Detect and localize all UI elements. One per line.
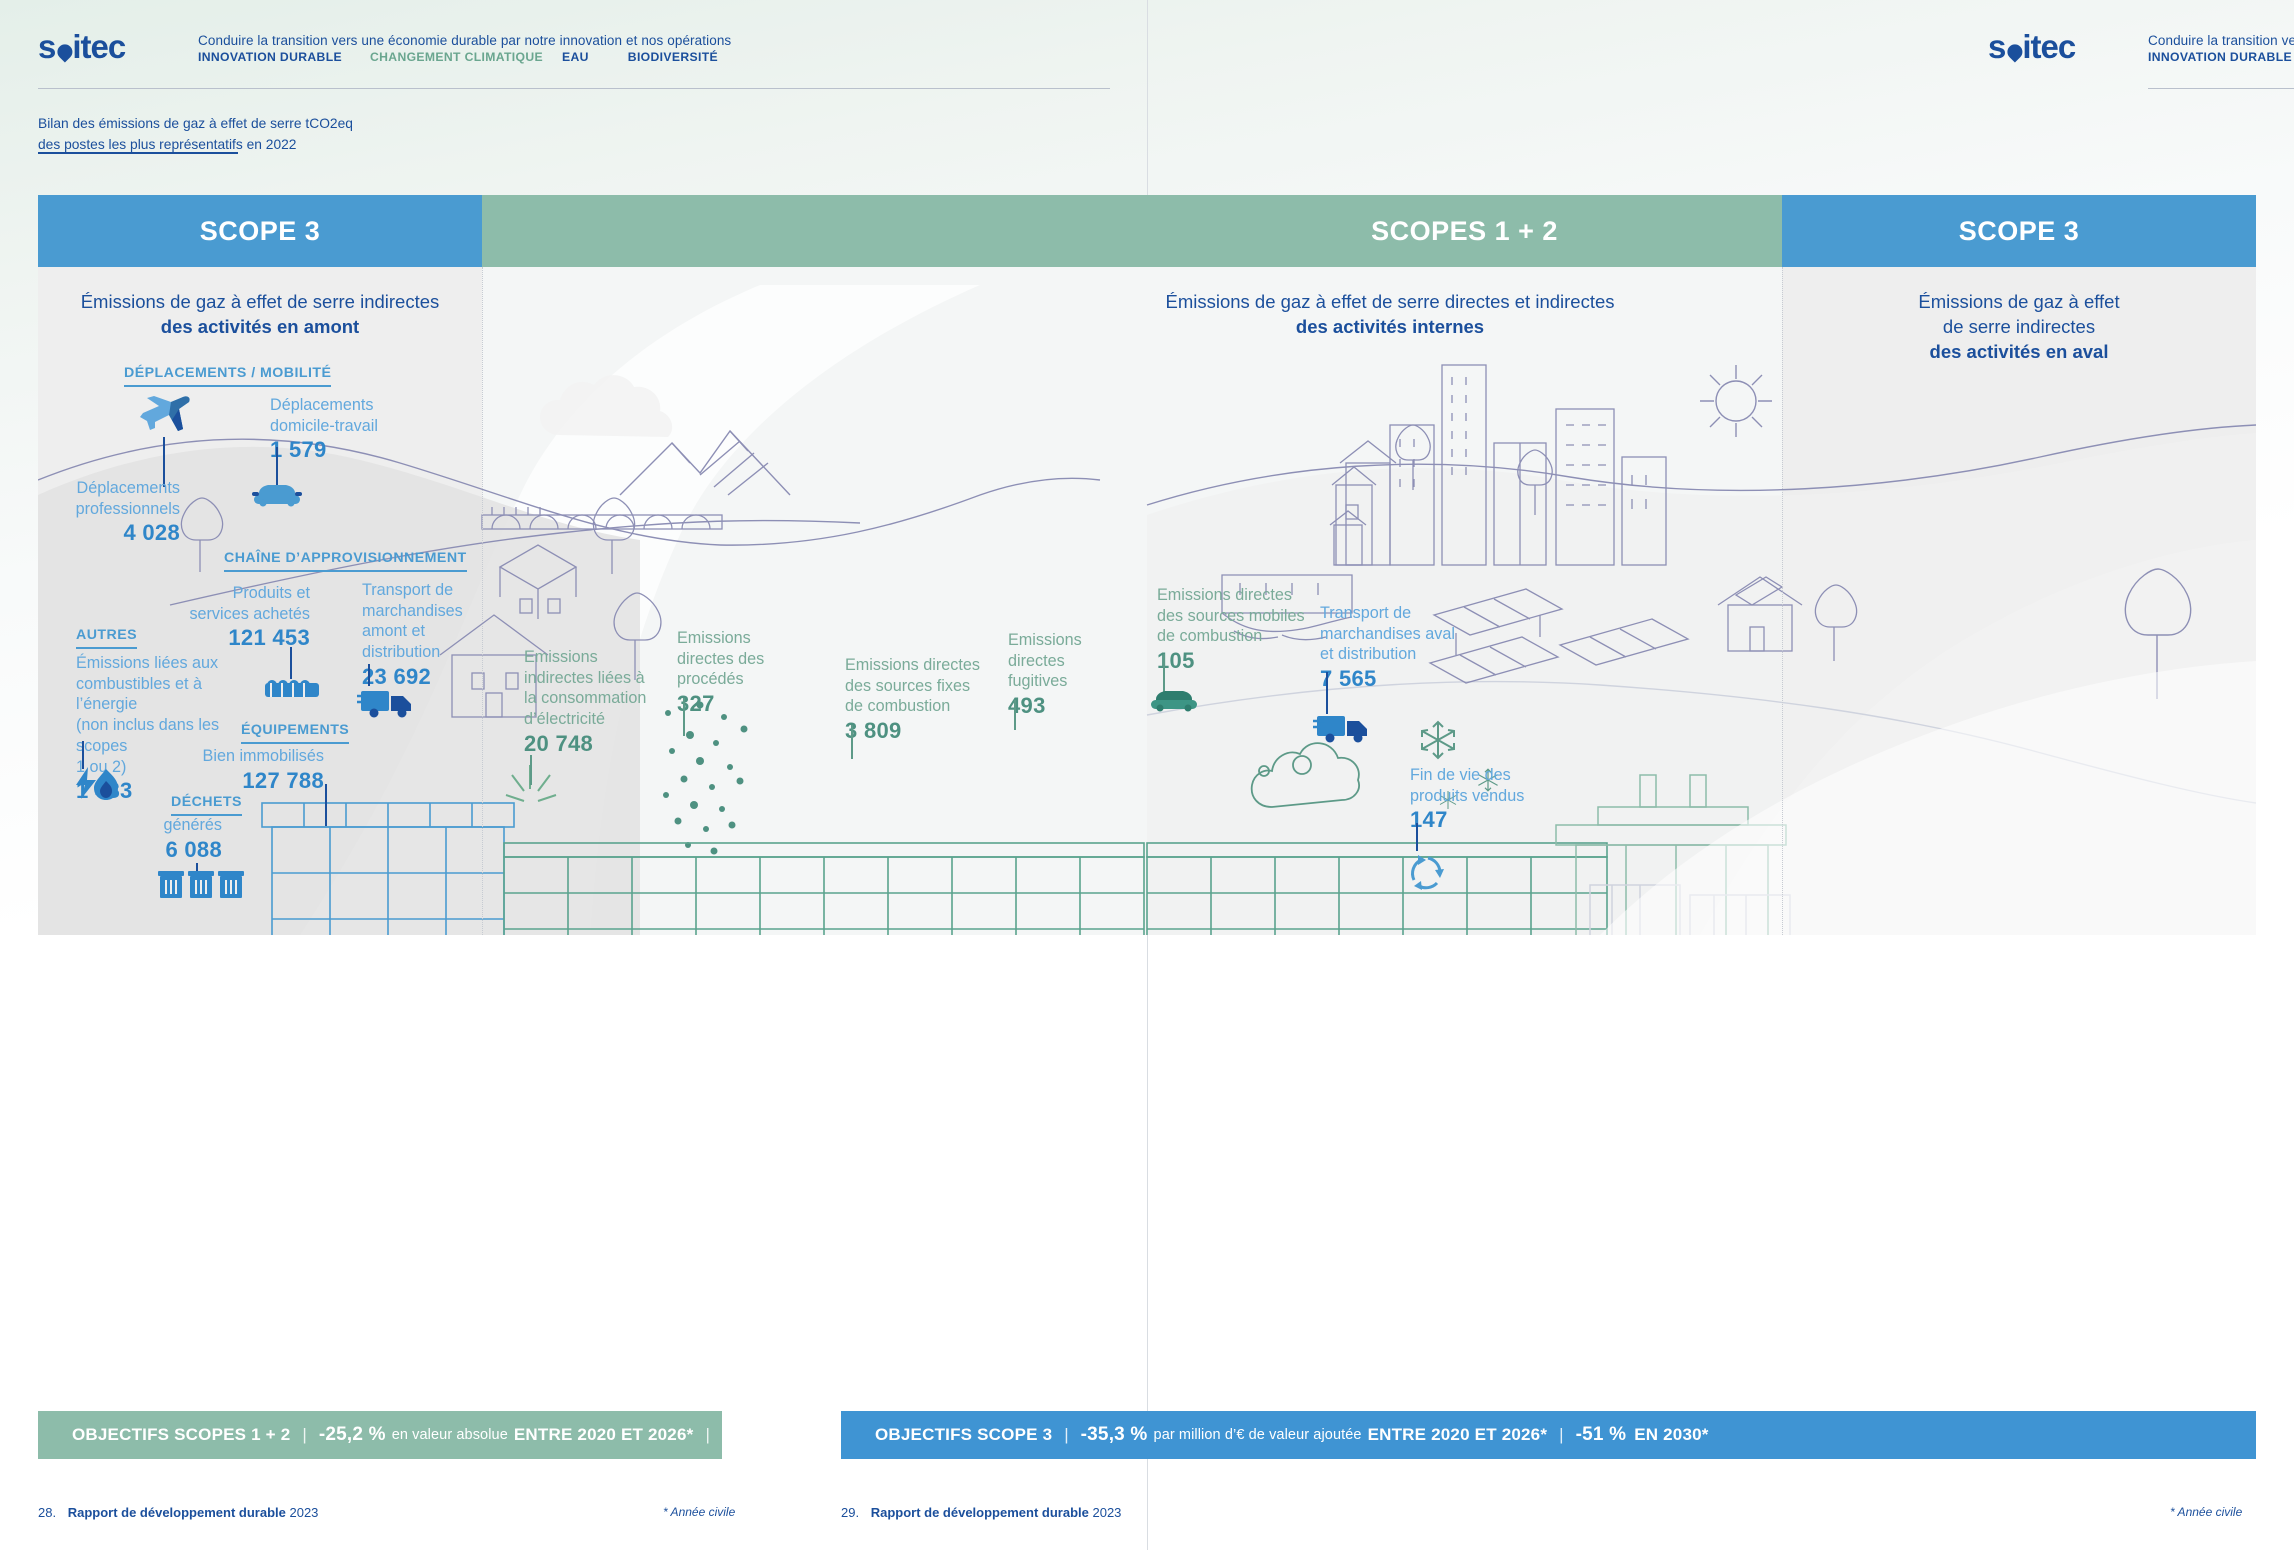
- item-capital-goods-value: 127 788: [180, 768, 324, 794]
- emissions-infographic: SCOPE 3 SCOPES 1 + 2 SCOPE 3 Émissions d…: [0, 195, 2294, 935]
- desc-upstream-line2: des activités en amont: [161, 316, 359, 337]
- item-business-travel-value: 4 028: [0, 520, 180, 546]
- panel-middle-bg-left: [482, 195, 1147, 935]
- item-downstream-transport-value: 7 565: [1320, 666, 1480, 692]
- item-capital-goods-label: Bien immobilisés: [180, 746, 324, 767]
- item-fugitive-label: Emissionsdirectesfugitives: [1008, 630, 1118, 692]
- leader-purchased-goods: [290, 647, 292, 679]
- item-commuting: Déplacementsdomicile-travail 1 579: [270, 395, 440, 463]
- footnote-left: * Année civile: [663, 1505, 735, 1519]
- wafers-icon: [265, 677, 319, 706]
- objective-scope3-title: OBJECTIFS SCOPE 3: [875, 1425, 1052, 1445]
- chart-subtitle-line1: Bilan des émissions de gaz à effet de se…: [38, 116, 353, 131]
- waste-bins-icon: [130, 850, 250, 905]
- leader-fugitive: [1014, 700, 1016, 730]
- band-label-scopes12: SCOPES 1 + 2: [1371, 216, 1558, 247]
- footer-left-page-number: 28.: [38, 1505, 56, 1520]
- desc-downstream: Émissions de gaz à effet de serre indire…: [1782, 290, 2256, 365]
- item-commuting-value: 1 579: [270, 437, 440, 463]
- item-purchased-goods: Produits etservices achetés 121 453: [160, 583, 310, 651]
- leader-commuting: [276, 447, 278, 487]
- objective-scope3-period-2026: ENTRE 2020 ET 2026*: [1368, 1425, 1548, 1445]
- item-business-travel: Déplacementsprofessionnels 4 028: [0, 478, 180, 546]
- soitec-logo: sitec: [38, 28, 125, 66]
- band-label-scope3-upstream: SCOPE 3: [200, 216, 321, 247]
- footer-left-year: 2023: [289, 1505, 318, 1520]
- truck-downstream-icon: [1313, 710, 1375, 749]
- chart-subtitle-line2: des postes les plus représentatifs en 20…: [38, 137, 296, 152]
- footer-left-report: Rapport de développement durable: [68, 1505, 286, 1520]
- item-electricity-label: Emissionsindirectes liées àla consommati…: [524, 647, 674, 730]
- leader-process: [683, 698, 685, 736]
- leader-stationary: [851, 725, 853, 759]
- footnote-right: * Année civile: [2170, 1505, 2242, 1519]
- header-nav-right: INNOVATION DURABLE CHANGEMENT CLIMATIQUE…: [2148, 50, 2294, 70]
- objective-sep-2: |: [705, 1425, 709, 1445]
- category-mobility: DÉPLACEMENTS / MOBILITÉ: [124, 365, 331, 387]
- truck-icon: [357, 685, 419, 724]
- logo-leaf-icon-right: [2005, 41, 2026, 62]
- item-mobile-value: 105: [1157, 648, 1337, 674]
- footer-right-report: Rapport de développement durable: [871, 1505, 1089, 1520]
- energy-flame-bolt-icon: [72, 765, 128, 806]
- nav-item-biodiversite[interactable]: BIODIVERSITÉ: [628, 50, 718, 64]
- objective-sep-1: |: [302, 1425, 306, 1445]
- objective-scope3-basis: par million d’€ de valeur ajoutée: [1154, 1427, 1362, 1443]
- item-electricity-value: 20 748: [524, 731, 674, 757]
- logo-leaf-icon: [55, 41, 76, 62]
- band-scopes12-right: SCOPES 1 + 2: [1147, 195, 1782, 267]
- objective-scope3: OBJECTIFS SCOPE 3 | -35,3 % par million …: [841, 1411, 2256, 1459]
- nav-item-changement-climatique[interactable]: CHANGEMENT CLIMATIQUE: [370, 50, 543, 64]
- plane-icon: [136, 391, 192, 440]
- item-downstream-transport-label: Transport demarchandises avalet distribu…: [1320, 603, 1480, 665]
- page-header-left: sitec Conduire la transition vers une éc…: [0, 0, 1147, 190]
- item-process: Emissionsdirectes desprocédés 327: [677, 628, 797, 717]
- report-spread: sitec Conduire la transition vers une éc…: [0, 0, 2294, 1550]
- desc-downstream-line1: Émissions de gaz à effet: [1918, 291, 2119, 312]
- desc-downstream-line2: de serre indirectes: [1943, 316, 2095, 337]
- desc-upstream: Émissions de gaz à effet de serre indire…: [38, 290, 482, 340]
- desc-internal: Émissions de gaz à effet de serre direct…: [1060, 290, 1720, 340]
- item-purchased-goods-label: Produits etservices achetés: [160, 583, 310, 624]
- item-stationary-label: Emissions directesdes sources fixesde co…: [845, 655, 1015, 717]
- band-label-scope3-downstream: SCOPE 3: [1959, 216, 2080, 247]
- leader-electricity: [530, 755, 532, 785]
- category-equipment: ÉQUIPEMENTS: [241, 722, 349, 744]
- desc-downstream-line3: des activités en aval: [1930, 341, 2109, 362]
- panel-divider-2: [1782, 267, 1783, 935]
- page-header-right: sitec Conduire la transition vers une éc…: [1147, 0, 2294, 190]
- objective-scopes12: OBJECTIFS SCOPES 1 + 2 | -25,2 % en vale…: [38, 1411, 722, 1459]
- category-supply-chain: CHAÎNE D’APPROVISIONNEMENT: [224, 550, 467, 572]
- item-fugitive-value: 493: [1008, 693, 1118, 719]
- car-icon: [252, 483, 302, 514]
- leader-end-of-life: [1416, 823, 1418, 851]
- objective-scopes12-period-2026: ENTRE 2020 ET 2026*: [514, 1425, 694, 1445]
- header-nav-left: INNOVATION DURABLE CHANGEMENT CLIMATIQUE…: [198, 50, 718, 70]
- item-upstream-transport-label: Transport demarchandisesamont etdistribu…: [362, 580, 482, 663]
- item-end-of-life-value: 147: [1410, 807, 1570, 833]
- objective-scope3-pct-2030: -51 %: [1576, 1424, 1627, 1446]
- leader-capital-goods: [325, 784, 327, 826]
- nav-item-innovation-durable[interactable]: INNOVATION DURABLE: [198, 50, 342, 64]
- band-scopes12-left: [482, 195, 1147, 267]
- item-business-travel-label: Déplacementsprofessionnels: [0, 478, 180, 519]
- objective-scope3-pct-2026: -35,3 %: [1081, 1424, 1148, 1446]
- item-mobile-label: Emissions directesdes sources mobilesde …: [1157, 585, 1337, 647]
- item-waste-label: générés: [100, 815, 222, 836]
- objective-sep-3: |: [1064, 1425, 1068, 1445]
- band-scope3-upstream: SCOPE 3: [38, 195, 482, 267]
- item-commuting-label: Déplacementsdomicile-travail: [270, 395, 440, 436]
- leader-mobile: [1163, 654, 1165, 692]
- item-mobile: Emissions directesdes sources mobilesde …: [1157, 585, 1337, 674]
- header-tagline-right: Conduire la transition vers une économie…: [2148, 33, 2294, 48]
- objective-scopes12-pct-2026: -25,2 %: [319, 1424, 386, 1446]
- band-scope3-downstream: SCOPE 3: [1782, 195, 2256, 267]
- soitec-logo-right: sitec: [1988, 28, 2075, 66]
- item-end-of-life: Fin de vie desproduits vendus 147: [1410, 765, 1570, 833]
- header-divider-left: [38, 88, 1110, 89]
- desc-internal-line2: des activités internes: [1296, 316, 1484, 337]
- objective-scopes12-pct-2030: -37 %: [722, 1424, 773, 1446]
- item-fugitive: Emissionsdirectesfugitives 493: [1008, 630, 1118, 719]
- leader-downstream-transport: [1326, 672, 1328, 714]
- item-stationary: Emissions directesdes sources fixesde co…: [845, 655, 1015, 744]
- chart-subtitle: Bilan des émissions de gaz à effet de se…: [38, 113, 353, 156]
- item-process-value: 327: [677, 691, 797, 717]
- item-stationary-value: 3 809: [845, 718, 1015, 744]
- item-process-label: Emissionsdirectes desprocédés: [677, 628, 797, 690]
- desc-internal-line1: Émissions de gaz à effet de serre direct…: [1165, 291, 1614, 312]
- electric-car-icon: [1148, 688, 1200, 719]
- footer-right-year: 2023: [1092, 1505, 1121, 1520]
- objective-scopes12-title: OBJECTIFS SCOPES 1 + 2: [72, 1425, 290, 1445]
- item-downstream-transport: Transport demarchandises avalet distribu…: [1320, 603, 1480, 692]
- item-upstream-transport: Transport demarchandisesamont etdistribu…: [362, 580, 482, 690]
- panel-divider-1: [482, 267, 483, 935]
- item-purchased-goods-value: 121 453: [160, 625, 310, 651]
- header-tagline: Conduire la transition vers une économie…: [198, 33, 731, 48]
- item-capital-goods: Bien immobilisés 127 788: [180, 746, 324, 794]
- objective-scope3-period-2030: EN 2030*: [1634, 1425, 1708, 1445]
- footer-right-page-number: 29.: [841, 1505, 859, 1520]
- objective-sep-4: |: [1559, 1425, 1563, 1445]
- chart-subtitle-underline: [38, 152, 238, 154]
- footer-right: 29. Rapport de développement durable 202…: [841, 1505, 1121, 1520]
- nav-item-innovation-durable-right[interactable]: INNOVATION DURABLE: [2148, 50, 2292, 64]
- item-end-of-life-label: Fin de vie desproduits vendus: [1410, 765, 1570, 806]
- desc-upstream-line1: Émissions de gaz à effet de serre indire…: [81, 291, 440, 312]
- objective-scopes12-basis: en valeur absolue: [392, 1427, 508, 1443]
- footer-left: 28. Rapport de développement durable 202…: [38, 1505, 318, 1520]
- category-other: AUTRES: [76, 627, 137, 649]
- nav-item-eau[interactable]: EAU: [562, 50, 589, 64]
- header-divider-right: [2148, 88, 2294, 89]
- leader-upstream-transport: [368, 664, 370, 686]
- recycle-icon: [1404, 850, 1450, 899]
- item-electricity: Emissionsindirectes liées àla consommati…: [524, 647, 674, 757]
